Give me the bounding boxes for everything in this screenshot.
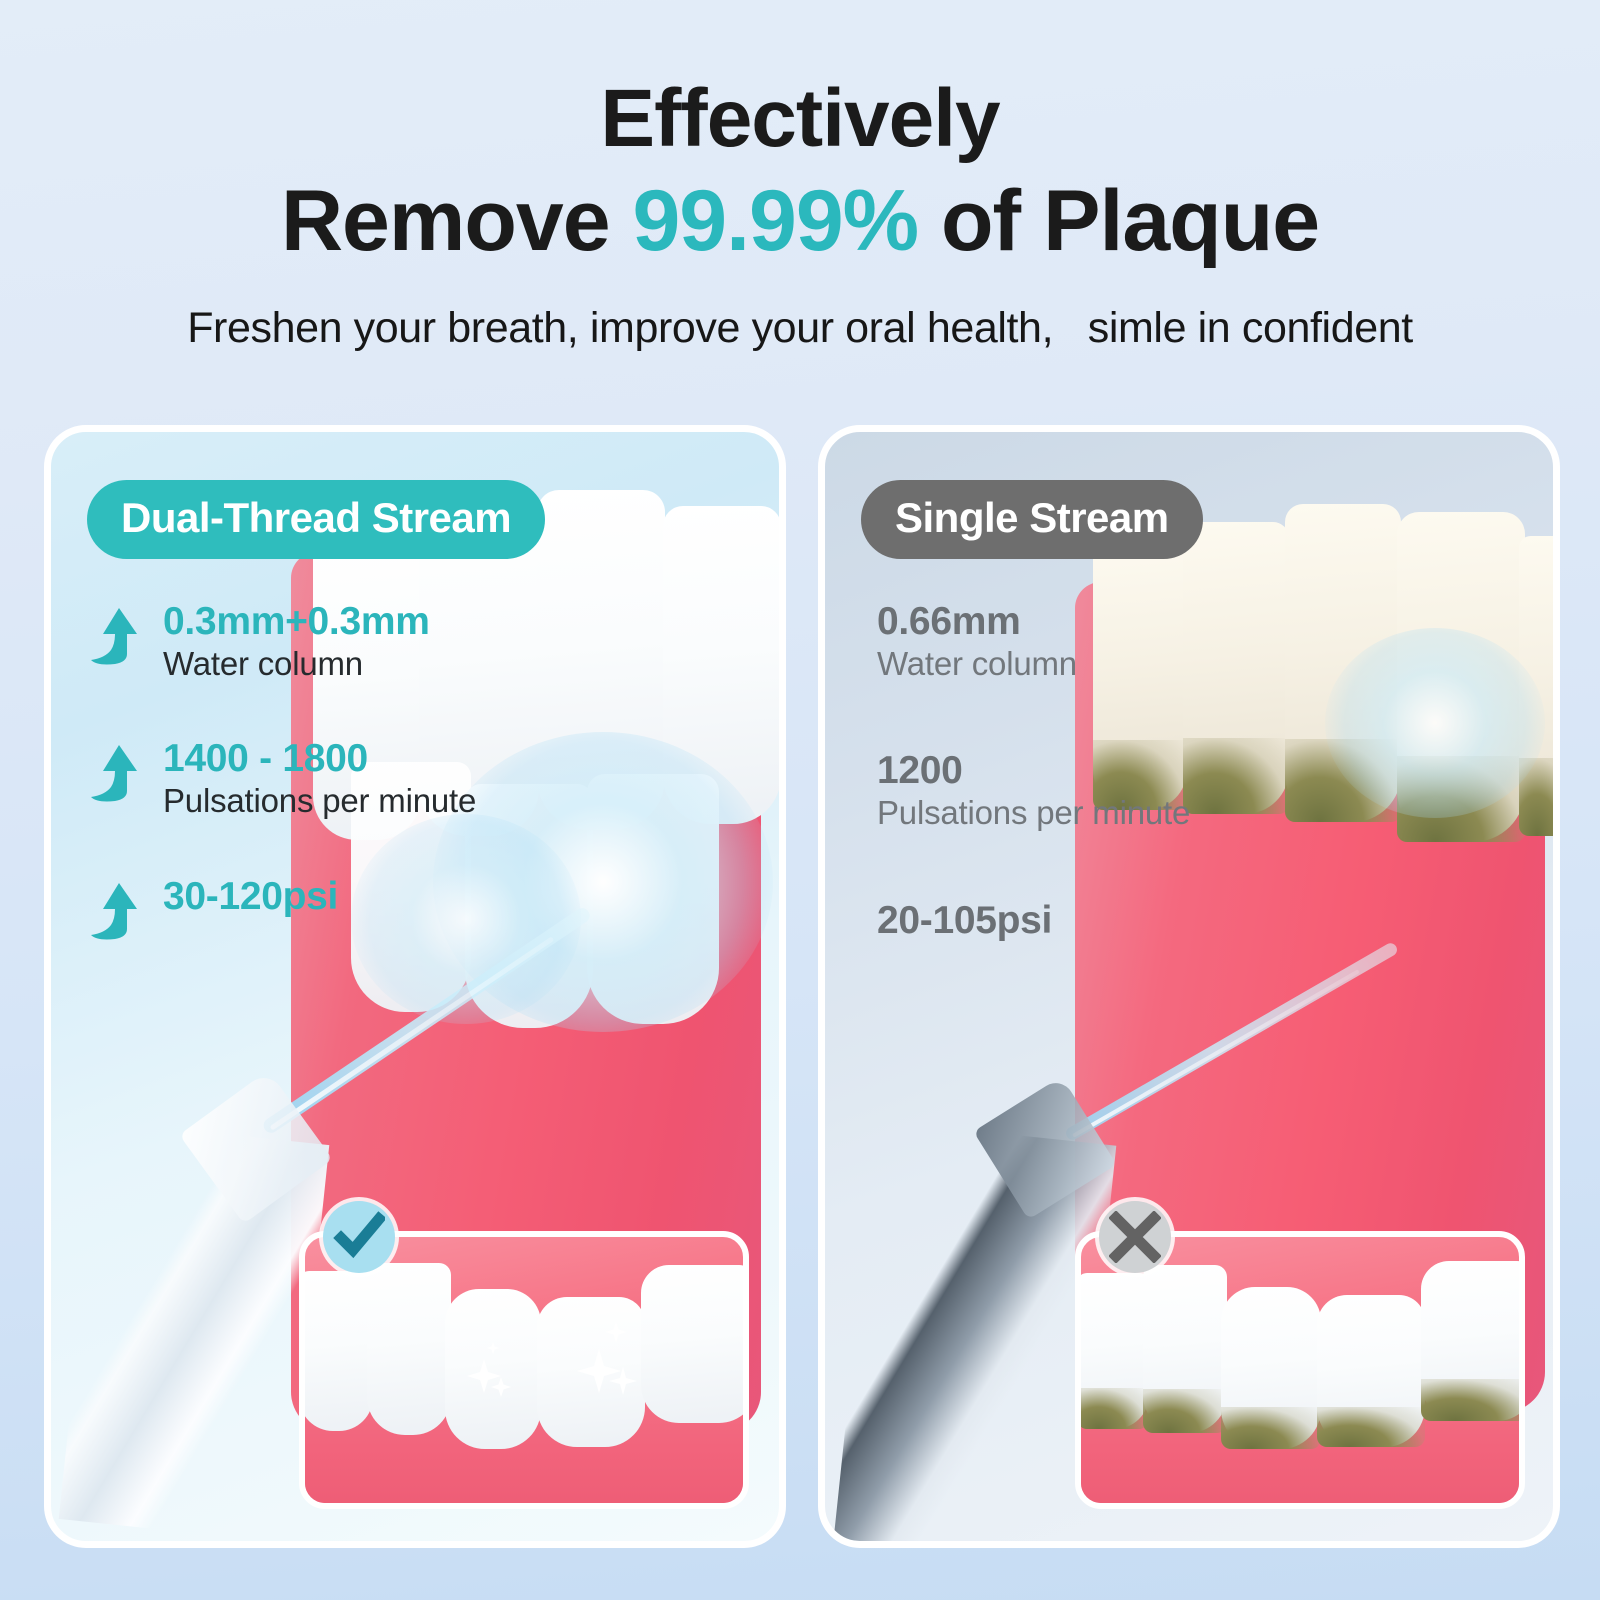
inset-tooth	[299, 1271, 373, 1431]
up-arrow-icon	[89, 879, 145, 941]
spec-value: 1400 - 1800	[163, 737, 559, 781]
page-subtitle: Freshen your breath, improve your oral h…	[0, 304, 1600, 353]
spec-label: Pulsations per minute	[163, 781, 559, 821]
header: Effectively Remove 99.99% of Plaque Fres…	[0, 0, 1600, 353]
plaque-deposit	[1077, 1388, 1149, 1429]
panel-dual-thread-stream: Dual-Thread Stream 0.3mm+0.3mm Water col…	[44, 425, 786, 1548]
badge-dual-thread-stream: Dual-Thread Stream	[87, 480, 545, 559]
inset-tooth	[1421, 1261, 1525, 1421]
title-prefix: Remove	[281, 173, 633, 269]
sparkle-icon	[605, 1321, 627, 1348]
inset-tooth	[641, 1265, 749, 1423]
spec-item: 0.3mm+0.3mm Water column	[89, 600, 559, 683]
spec-value: 20-105psi	[877, 899, 1333, 943]
spec-item: 20-105psi	[863, 899, 1333, 943]
inset-tooth	[367, 1263, 451, 1435]
inset-tooth	[1317, 1295, 1425, 1447]
up-arrow-icon	[89, 741, 145, 803]
spec-list-single-stream: 0.66mm Water column 1200 Pulsations per …	[863, 600, 1333, 1008]
title-percentage: 99.99%	[632, 173, 918, 269]
inset-plaque-teeth	[1075, 1231, 1525, 1509]
water-burst	[1325, 628, 1545, 818]
comparison-panels: Dual-Thread Stream 0.3mm+0.3mm Water col…	[0, 425, 1600, 1600]
plaque-deposit	[1143, 1389, 1227, 1433]
spec-label: Water column	[163, 644, 559, 684]
plaque-deposit	[1317, 1407, 1425, 1447]
spec-item: 0.66mm Water column	[863, 600, 1333, 683]
spec-item: 1400 - 1800 Pulsations per minute	[89, 737, 559, 820]
sparkle-icon	[487, 1341, 499, 1359]
spec-value: 30-120psi	[163, 875, 559, 919]
inset-tooth	[1143, 1265, 1227, 1433]
plaque-deposit	[1221, 1407, 1321, 1449]
badge-single-stream: Single Stream	[861, 480, 1203, 559]
cross-icon	[1099, 1201, 1171, 1273]
sparkle-icon	[609, 1367, 637, 1400]
sparkle-icon	[491, 1377, 511, 1402]
inset-tooth	[1077, 1273, 1149, 1429]
page-title-line-1: Effectively	[0, 78, 1600, 160]
inset-tooth	[1221, 1287, 1321, 1449]
spec-item: 1200 Pulsations per minute	[863, 749, 1333, 832]
page-title-line-2: Remove 99.99% of Plaque	[0, 178, 1600, 264]
spec-label: Pulsations per minute	[877, 793, 1333, 833]
up-arrow-icon	[89, 604, 145, 666]
spec-label: Water column	[877, 644, 1333, 684]
spec-value: 0.3mm+0.3mm	[163, 600, 559, 644]
spec-item: 30-120psi	[89, 875, 559, 919]
check-icon	[323, 1201, 395, 1273]
spec-list-dual-thread: 0.3mm+0.3mm Water column 1400 - 1800 Pul…	[89, 600, 559, 972]
panel-single-stream: Single Stream 0.66mm Water column 1200 P…	[818, 425, 1560, 1548]
spec-value: 1200	[877, 749, 1333, 793]
title-suffix: of Plaque	[918, 173, 1319, 269]
inset-clean-teeth	[299, 1231, 749, 1509]
plaque-deposit	[1421, 1379, 1525, 1421]
spec-value: 0.66mm	[877, 600, 1333, 644]
